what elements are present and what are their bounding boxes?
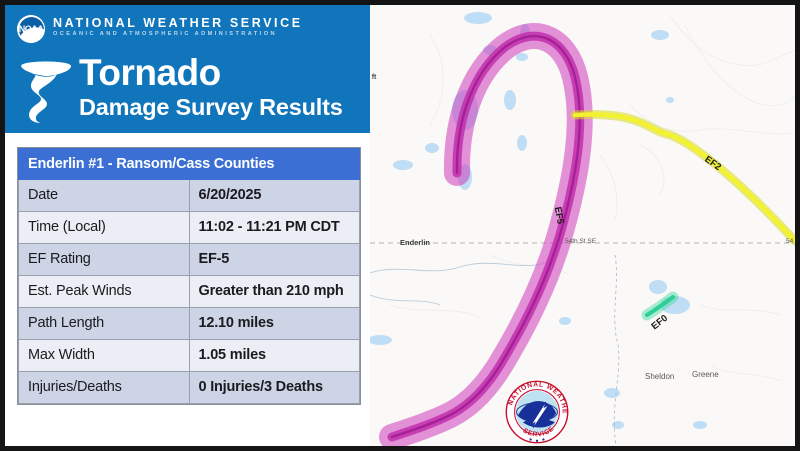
nws-header-banner: NOAA NATIONAL WEATHER SERVICE OCEANIC AN… xyxy=(5,5,370,133)
row-label: Path Length xyxy=(19,308,190,340)
label-54th-st-se-east: 54 xyxy=(786,238,793,245)
page-subtitle: Damage Survey Results xyxy=(79,93,343,121)
row-label: Est. Peak Winds xyxy=(19,276,190,308)
label-greene: Greene xyxy=(692,370,719,379)
map-canvas[interactable]: EF5 EF2 EF0 Enderlin 54th St SE 54 Sheld… xyxy=(370,5,795,446)
table-row: Path Length12.10 miles xyxy=(19,308,360,340)
nws-seal: NATIONAL WEATHER SERVICE xyxy=(505,380,569,444)
table-row: EF RatingEF-5 xyxy=(19,244,360,276)
page-title: Tornado xyxy=(79,53,343,93)
row-value: EF-5 xyxy=(189,244,360,276)
damage-path-map[interactable]: EF5 EF2 EF0 Enderlin 54th St SE 54 Sheld… xyxy=(370,0,800,451)
row-value: 6/20/2025 xyxy=(189,180,360,212)
table-header: Enderlin #1 - Ransom/Cass Counties xyxy=(19,149,360,180)
table-row: Max Width1.05 miles xyxy=(19,340,360,372)
row-label: Date xyxy=(19,180,190,212)
table-row: Time (Local)11:02 - 11:21 PM CDT xyxy=(19,212,360,244)
agency-subtitle: OCEANIC AND ATMOSPHERIC ADMINISTRATION xyxy=(53,30,303,39)
tornado-funnel-icon xyxy=(17,57,75,125)
agency-name: NATIONAL WEATHER SERVICE xyxy=(53,16,303,30)
label-sheldon: Sheldon xyxy=(645,372,674,381)
label-54th-st-se: 54th St SE xyxy=(565,238,596,245)
info-panel: NOAA NATIONAL WEATHER SERVICE OCEANIC AN… xyxy=(0,0,370,451)
row-value: 11:02 - 11:21 PM CDT xyxy=(189,212,360,244)
label-enderlin: Enderlin xyxy=(400,238,430,247)
table-row: Date6/20/2025 xyxy=(19,180,360,212)
noaa-logo: NOAA xyxy=(17,15,45,43)
row-value: 12.10 miles xyxy=(189,308,360,340)
row-value: 1.05 miles xyxy=(189,340,360,372)
row-label: Max Width xyxy=(19,340,190,372)
table-row: Injuries/Deaths0 Injuries/3 Deaths xyxy=(19,372,360,404)
banner-title-block: Tornado Damage Survey Results xyxy=(79,53,343,121)
row-value: 0 Injuries/3 Deaths xyxy=(189,372,360,404)
row-label: Injuries/Deaths xyxy=(19,372,190,404)
row-label: Time (Local) xyxy=(19,212,190,244)
row-value: Greater than 210 mph xyxy=(189,276,360,308)
tornado-damage-survey-graphic: NOAA NATIONAL WEATHER SERVICE OCEANIC AN… xyxy=(0,0,800,451)
survey-results-table: Enderlin #1 - Ransom/Cass Counties Date6… xyxy=(17,147,361,405)
table-row: Est. Peak WindsGreater than 210 mph xyxy=(19,276,360,308)
nws-wordmark: NATIONAL WEATHER SERVICE OCEANIC AND ATM… xyxy=(53,16,303,39)
elevation-label: 82 ft xyxy=(370,74,376,81)
noaa-bird-glyph: NOAA xyxy=(19,24,44,34)
row-label: EF Rating xyxy=(19,244,190,276)
